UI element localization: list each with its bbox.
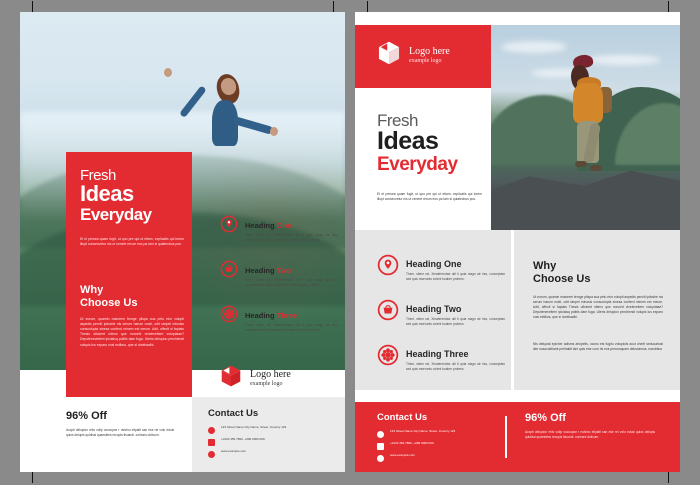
why-title-right: Why Choose Us [533,260,663,286]
location-pin-icon [377,254,399,281]
why-paragraph-1-right: Ut eorum, quamin maiorem feroge plispa s… [533,295,663,320]
feature-body: Theni, sitem rat. Xinaterendae uiti ti q… [245,323,338,333]
feature-item[interactable]: Heading One Theni, sitem rat. Xinaterend… [220,215,338,243]
feature-heading-main: Heading [245,266,275,275]
contact-row[interactable]: 123 Street Name City Name, Street ,Count… [208,426,338,434]
feature-body: Theni, sitem rat. Xinaterendae uiti ti q… [245,278,338,288]
why-title-line-1: Why [80,284,184,297]
feature-heading: Heading One [406,259,462,269]
why-paragraph-2-right: Nis delupiat epicher adisms ariopelis, o… [533,342,663,352]
logo-lockup-header[interactable]: Logo here example logo [377,40,450,71]
shopping-bag-icon [377,299,399,326]
contact-website: www.example.com [390,454,415,458]
brochure-page-outside: Fresh Ideas Everyday Et ei persea quam f… [20,12,345,472]
contact-address: 123 Street Name City Name, Street ,Count… [390,430,455,434]
headline-line-3: Everyday [377,155,487,174]
page-headline-left: Fresh Ideas Everyday [80,168,192,223]
offer-title: 96% Off [525,412,655,424]
feature-heading-main: Heading [406,259,442,269]
crop-mark [668,472,669,483]
contact-title-left: Contact Us [208,408,258,419]
feature-heading: Heading Three [245,311,297,320]
location-dot-icon [377,431,384,438]
why-title-left: Why Choose Us [80,284,184,310]
shopping-bag-icon [220,260,238,283]
logo-text: Logo here example logo [409,46,450,64]
headline-line-2: Ideas [80,183,192,205]
feature-heading-main: Heading [406,304,442,314]
why-title-line-2: Choose Us [80,297,184,310]
offer-block-right: 96% Off Accpti delupion reiis volip vocc… [525,412,655,440]
phone-square-icon [377,443,384,450]
headline-line-2: Ideas [377,129,487,155]
contact-row[interactable]: +0123 456 7890, +000 0000 000. [377,442,497,450]
feature-heading-accent: One [277,221,292,230]
logo-lockup[interactable]: Logo here example logo [220,364,291,393]
location-dot-icon [208,427,215,434]
contact-website: www.example.com [221,450,246,454]
headline-line-3: Everyday [80,206,192,223]
intro-paragraph-right: Et ei persea quam fugit, ut quo pre qui … [377,192,482,202]
globe-dot-icon [377,455,384,462]
feature-heading-accent: Two [444,304,461,314]
brochure-page-inside: Logo here example logo [355,12,680,472]
logo-subtitle: example logo [250,381,291,388]
contact-address: 123 Street Name City Name, Street ,Count… [221,426,286,430]
logo-title: Logo here [409,46,450,58]
crop-mark [668,1,669,12]
feature-item[interactable]: Heading Three Theni, sitem rat. Xinatere… [220,305,338,333]
feature-body: Theni, sitem rat. Xinaterendae uiti ti q… [406,362,505,372]
phone-square-icon [208,439,215,446]
why-paragraph-left: Ut eorum, quamin maiorem feroge plispa s… [80,317,184,348]
feature-heading: Heading Two [406,304,461,314]
globe-dot-icon [208,451,215,458]
offer-title: 96% Off [66,410,174,422]
offer-body: Accpti delupion reiis volip voccupce r n… [525,430,655,440]
contact-list-right: 123 Street Name City Name, Street ,Count… [377,430,497,466]
page-headline-right: Fresh Ideas Everyday [377,112,487,174]
gear-flower-icon [377,344,399,371]
feature-heading: Heading Three [406,349,469,359]
feature-heading-accent: Three [277,311,297,320]
feature-heading-accent: One [444,259,462,269]
contact-row[interactable]: 123 Street Name City Name, Street ,Count… [377,430,497,438]
contact-phone: +0123 456 7890, +000 0000 000. [390,442,434,446]
feature-heading-accent: Three [444,349,469,359]
crop-mark [32,1,33,12]
contact-title-right: Contact Us [377,412,427,423]
hero-photo-right [491,25,680,230]
feature-item[interactable]: Heading Two Theni, sitem rat. Xinaterend… [220,260,338,288]
offer-body: Accpti delupion reiis volip voccupce r n… [66,428,174,438]
contact-phone: +0123 456 7890, +000 0000 000. [221,438,265,442]
why-title-line-1: Why [533,260,663,273]
feature-body: Theni, sitem rat. Xinaterendae uiti ti q… [406,317,505,327]
crop-mark [333,1,334,12]
gear-flower-icon [220,305,238,328]
location-pin-icon [220,215,238,238]
logo-subtitle: example logo [409,58,450,65]
panel-fold-divider [511,230,514,390]
feature-heading: Heading Two [245,266,291,275]
intro-paragraph-left: Et ei persea quam fugit, ut quo pre qui … [80,237,184,247]
feature-heading-main: Heading [406,349,442,359]
contact-list-left: 123 Street Name City Name, Street ,Count… [208,426,338,462]
feature-body: Theni, sitem rat. Xinaterendae uiti ti q… [406,272,505,282]
offer-block-left: 96% Off Accpti delupion reiis volip vocc… [66,410,174,438]
feature-heading-main: Heading [245,311,275,320]
contact-row[interactable]: www.example.com [208,450,338,458]
feature-heading-accent: Two [277,266,291,275]
contact-row[interactable]: www.example.com [377,454,497,462]
feature-item[interactable]: Heading Three Theni, sitem rat. Xinatere… [377,344,505,372]
feature-heading: Heading One [245,221,291,230]
crop-mark [32,472,33,483]
feature-item[interactable]: Heading Two Theni, sitem rat. Xinaterend… [377,299,505,327]
feature-body: Theni, sitem rat. Xinaterendae uiti ti q… [245,233,338,243]
crop-mark [367,1,368,12]
logo-text: Logo here example logo [250,369,291,387]
footer-divider [505,416,507,458]
cube-box-logo-icon [220,364,242,393]
feature-heading-main: Heading [245,221,275,230]
why-title-line-2: Choose Us [533,273,663,286]
logo-title: Logo here [250,369,291,381]
feature-item[interactable]: Heading One Theni, sitem rat. Xinaterend… [377,254,505,282]
contact-row[interactable]: +0123 456 7890, +000 0000 000. [208,438,338,446]
cube-box-logo-icon [377,40,401,71]
brochure-mockup-canvas: Fresh Ideas Everyday Et ei persea quam f… [0,0,700,485]
